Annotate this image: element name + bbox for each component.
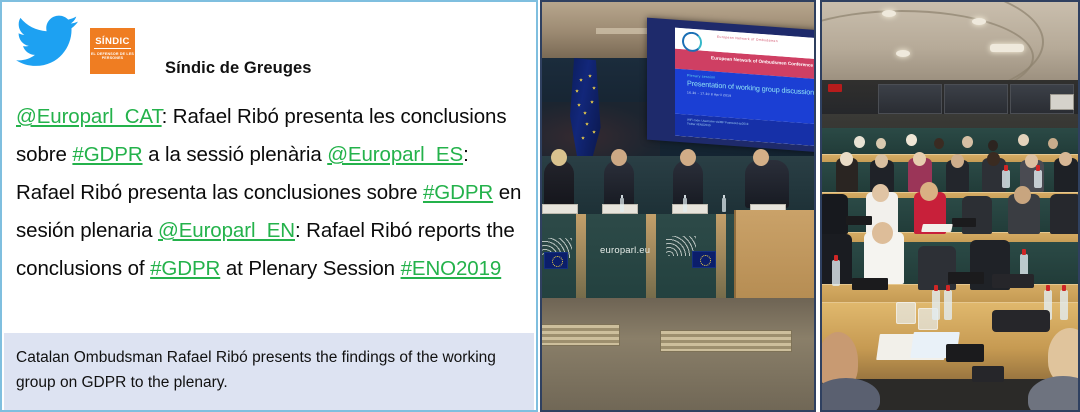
water-bottle — [1060, 290, 1068, 320]
delegate-head — [1018, 134, 1029, 146]
speaker-4 — [745, 160, 789, 208]
delegate-head — [962, 136, 973, 148]
mention-link-europarl-cat[interactable]: @Europarl_CAT — [16, 105, 162, 128]
projection-screen: European Network of Ombudsmen European N… — [647, 18, 816, 153]
delegate-body — [1050, 194, 1080, 234]
speaker-dais — [540, 156, 816, 216]
ceiling-light-4 — [990, 44, 1024, 52]
mention-link-europarl-en[interactable]: @Europarl_EN — [158, 219, 295, 242]
delegate-head — [951, 154, 964, 168]
screenshot-root: SÍNDIC EL DEFENSOR DE LES PERSONES Síndi… — [0, 0, 1080, 412]
water-bottle-1 — [620, 198, 624, 212]
ceiling-light-3 — [896, 50, 910, 57]
ceiling-light-1 — [882, 10, 896, 17]
desk-socket — [972, 366, 1004, 382]
tweet-header: SÍNDIC EL DEFENSOR DE LES PERSONES Síndi… — [2, 2, 536, 94]
interpreter-booth-glass — [820, 80, 1080, 118]
delegate-head — [920, 182, 938, 201]
caption-bar: Catalan Ombudsman Rafael Ribó presents t… — [4, 333, 534, 410]
exit-sign — [828, 84, 842, 92]
hashtag-gdpr-en[interactable]: #GDPR — [150, 257, 220, 280]
audience-photo — [820, 0, 1080, 412]
speaker-4-head — [753, 149, 769, 166]
presentation-slide: European Network of Ombudsmen European N… — [675, 28, 816, 147]
speaker-3-head — [680, 149, 696, 166]
delegate-head — [872, 184, 889, 202]
panel-divider-2 — [646, 214, 656, 300]
desk-console — [992, 274, 1034, 288]
hashtag-gdpr-cat[interactable]: #GDPR — [72, 143, 142, 166]
laptop — [952, 218, 976, 227]
speaker-1-head — [551, 149, 567, 166]
delegate-head — [1014, 186, 1031, 204]
account-name: Síndic de Greuges — [165, 59, 312, 78]
glass-pane-2 — [944, 84, 1008, 114]
tweet-text-cat-tail: a la sessió plenària — [143, 143, 328, 166]
delegate-head — [913, 152, 926, 166]
delegate-head — [876, 138, 886, 149]
water-bottle — [1034, 170, 1042, 188]
speaker-3 — [673, 160, 703, 208]
nameplate-1 — [542, 204, 578, 214]
delegate-head — [854, 136, 865, 148]
speaker-1 — [544, 160, 574, 208]
delegate-head — [987, 152, 1000, 166]
foreground-shoulder-right — [1028, 376, 1080, 412]
ceiling — [820, 0, 1080, 80]
eu-emblem-mid — [692, 251, 716, 268]
logo-sub-text: EL DEFENSOR DE LES PERSONES — [90, 52, 135, 61]
delegate-head — [1048, 138, 1058, 149]
twitter-bird-icon[interactable] — [16, 14, 78, 68]
floor — [540, 298, 816, 412]
delegate-head — [1059, 152, 1072, 166]
delegate-head — [840, 152, 853, 166]
plenary-panel-photo: European Network of Ombudsmen European N… — [540, 0, 816, 412]
water-bottle — [944, 290, 952, 320]
voting-console[interactable] — [992, 310, 1050, 332]
delegate-body — [820, 194, 848, 234]
floor-vent-2 — [660, 330, 792, 352]
delegate-head — [988, 140, 998, 151]
nameplate-3 — [672, 204, 708, 214]
delegate-head — [872, 222, 893, 244]
water-bottle — [1002, 170, 1010, 188]
panel-divider-1 — [576, 214, 586, 300]
hashtag-gdpr-es[interactable]: #GDPR — [423, 181, 493, 204]
foreground-shoulder-left — [820, 378, 880, 412]
floor-vent-1 — [540, 324, 620, 346]
ceiling-light-2 — [972, 18, 986, 25]
hashtag-eno2019[interactable]: #ENO2019 — [401, 257, 502, 280]
water-bottle-3 — [722, 198, 726, 212]
water-bottle — [932, 290, 940, 320]
laptop — [846, 216, 872, 225]
delegate-head — [934, 138, 944, 149]
tweet-card: SÍNDIC EL DEFENSOR DE LES PERSONES Síndi… — [0, 0, 538, 412]
slide-eyebrow: European Network of Ombudsmen — [717, 35, 778, 43]
podium-url-text: europarl.eu — [600, 245, 650, 256]
mention-link-europarl-es[interactable]: @Europarl_ES — [327, 143, 463, 166]
delegate-head — [875, 154, 888, 168]
tweet-text: @Europarl_CAT: Rafael Ribó presenta les … — [16, 98, 528, 288]
delegate-body — [962, 196, 992, 234]
delegate-head — [906, 134, 917, 146]
water-bottle — [832, 260, 840, 286]
paper-document — [921, 224, 953, 232]
speaker-2-head — [611, 149, 627, 166]
sindic-de-greuges-logo[interactable]: SÍNDIC EL DEFENSOR DE LES PERSONES — [90, 28, 135, 74]
speaker-2 — [604, 160, 634, 208]
wooden-podium — [734, 210, 816, 302]
panel-divider-3 — [716, 214, 726, 300]
eu-emblem-left — [544, 252, 568, 269]
laptop — [852, 278, 888, 290]
wall-monitor — [1050, 94, 1074, 110]
logo-main-text: SÍNDIC — [94, 36, 131, 49]
smartphone — [946, 344, 984, 362]
tweet-text-en-tail: at Plenary Session — [220, 257, 400, 280]
laptop — [948, 272, 984, 284]
glass-pane-1 — [878, 84, 942, 114]
caption-text: Catalan Ombudsman Rafael Ribó presents t… — [16, 345, 516, 395]
water-bottle-2 — [683, 198, 687, 212]
water-glass-1 — [896, 302, 916, 324]
eno-logo-icon — [682, 31, 702, 52]
